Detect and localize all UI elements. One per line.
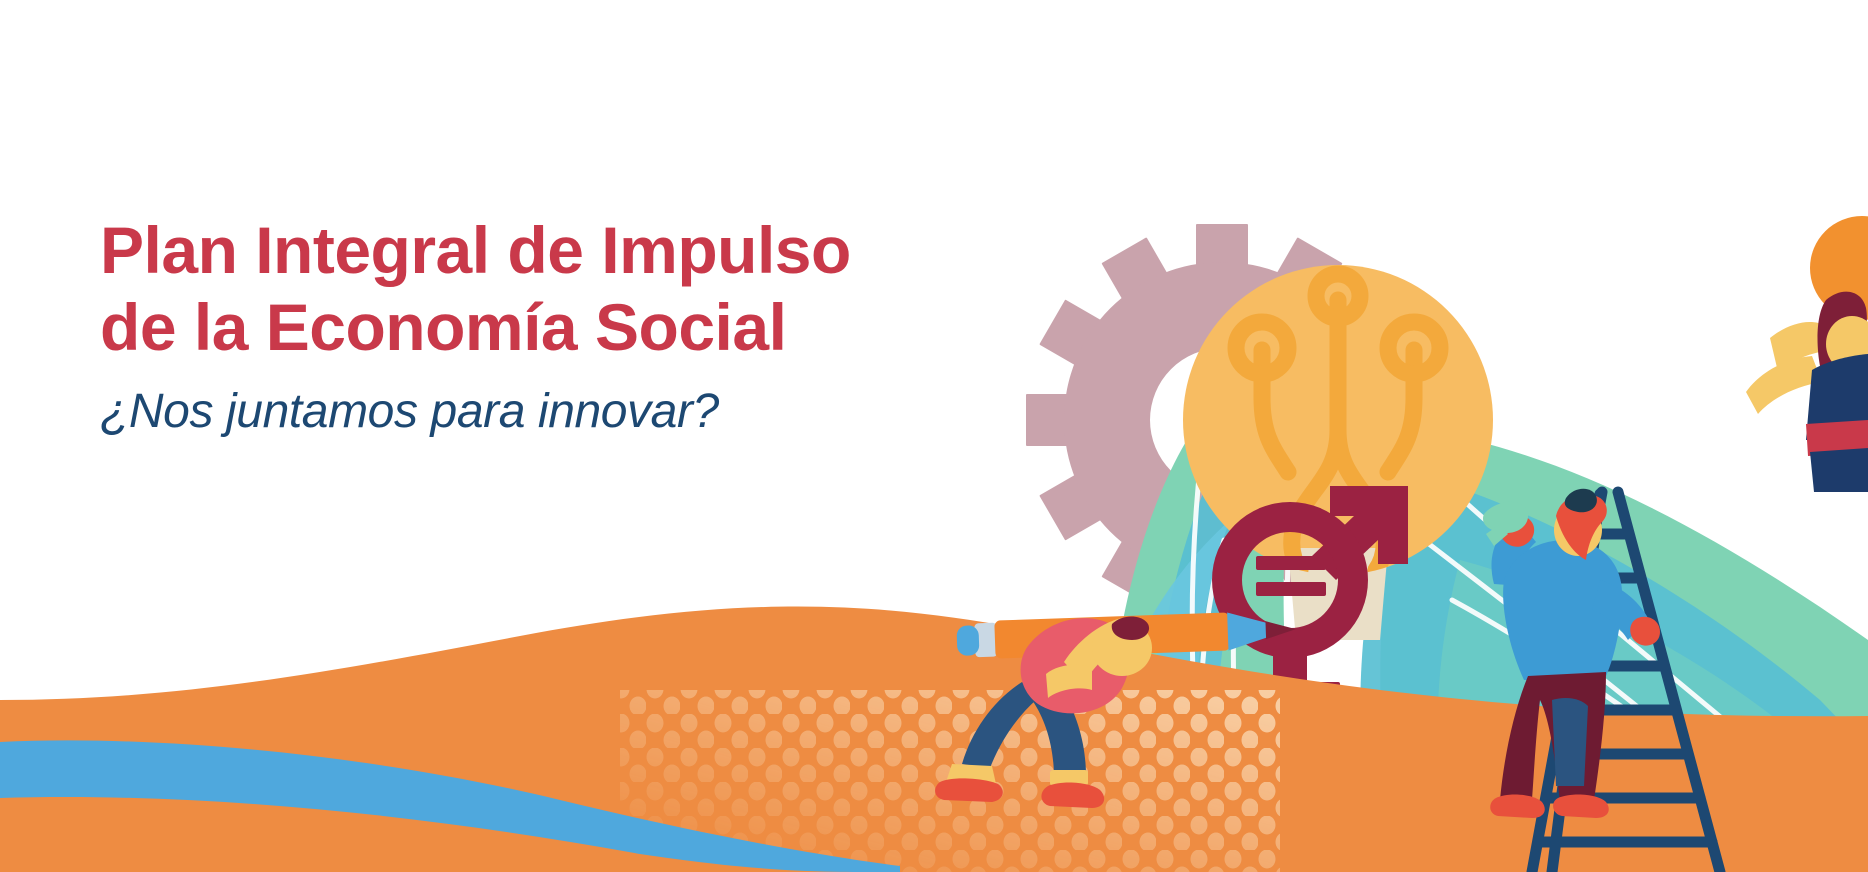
hero-text-block: Plan Integral de Impulso de la Economía … — [100, 212, 980, 441]
hero-banner: Plan Integral de Impulso de la Economía … — [0, 0, 1868, 872]
page-subtitle: ¿Nos juntamos para innovar? — [100, 383, 980, 441]
page-title: Plan Integral de Impulso de la Economía … — [100, 212, 980, 365]
